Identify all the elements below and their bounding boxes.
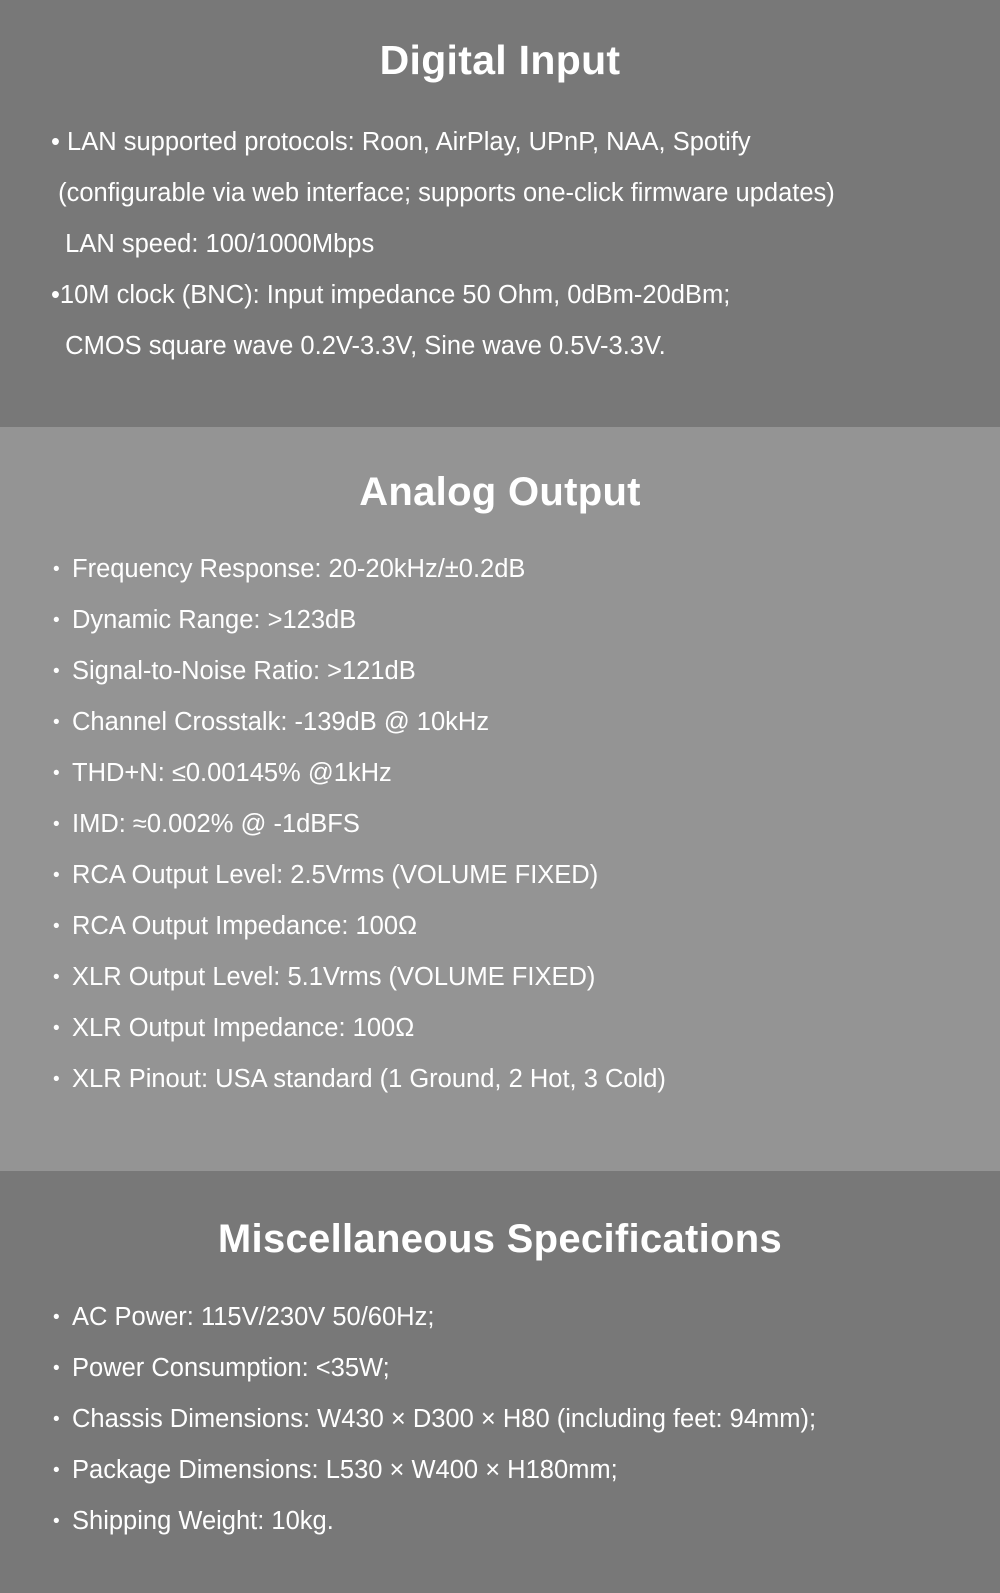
list-item: Dynamic Range: >123dB <box>53 595 1000 646</box>
spec-list-miscellaneous: AC Power: 115V/230V 50/60Hz; Power Consu… <box>0 1292 1000 1547</box>
list-item: XLR Output Level: 5.1Vrms (VOLUME FIXED) <box>53 952 1000 1003</box>
list-item: AC Power: 115V/230V 50/60Hz; <box>53 1292 1000 1343</box>
section-heading-miscellaneous: Miscellaneous Specifications <box>0 1171 1000 1259</box>
list-item: •10M clock (BNC): Input impedance 50 Ohm… <box>51 270 1000 321</box>
list-item: Power Consumption: <35W; <box>53 1343 1000 1394</box>
list-item: RCA Output Impedance: 100Ω <box>53 901 1000 952</box>
list-item: THD+N: ≤0.00145% @1kHz <box>53 748 1000 799</box>
list-item: XLR Output Impedance: 100Ω <box>53 1003 1000 1054</box>
section-miscellaneous-specifications: Miscellaneous Specifications AC Power: 1… <box>0 1171 1000 1593</box>
spec-list-analog-output: Frequency Response: 20-20kHz/±0.2dB Dyna… <box>0 544 1000 1105</box>
spec-list-digital-input: • LAN supported protocols: Roon, AirPlay… <box>0 117 1000 372</box>
list-item: Channel Crosstalk: -139dB @ 10kHz <box>53 697 1000 748</box>
list-item: (configurable via web interface; support… <box>51 168 1000 219</box>
section-analog-output: Analog Output Frequency Response: 20-20k… <box>0 427 1000 1171</box>
list-item: Package Dimensions: L530 × W400 × H180mm… <box>53 1445 1000 1496</box>
list-item: RCA Output Level: 2.5Vrms (VOLUME FIXED) <box>53 850 1000 901</box>
list-item: • LAN supported protocols: Roon, AirPlay… <box>51 117 1000 168</box>
list-item: XLR Pinout: USA standard (1 Ground, 2 Ho… <box>53 1054 1000 1105</box>
section-heading-analog-output: Analog Output <box>0 427 1000 512</box>
list-item: IMD: ≈0.002% @ -1dBFS <box>53 799 1000 850</box>
spec-sheet-page: Digital Input • LAN supported protocols:… <box>0 0 1000 1593</box>
list-item: LAN speed: 100/1000Mbps <box>51 219 1000 270</box>
section-digital-input: Digital Input • LAN supported protocols:… <box>0 0 1000 427</box>
list-item: Signal-to-Noise Ratio: >121dB <box>53 646 1000 697</box>
list-item: Chassis Dimensions: W430 × D300 × H80 (i… <box>53 1394 1000 1445</box>
section-heading-digital-input: Digital Input <box>0 0 1000 81</box>
list-item: Shipping Weight: 10kg. <box>53 1496 1000 1547</box>
list-item: CMOS square wave 0.2V-3.3V, Sine wave 0.… <box>51 321 1000 372</box>
list-item: Frequency Response: 20-20kHz/±0.2dB <box>53 544 1000 595</box>
